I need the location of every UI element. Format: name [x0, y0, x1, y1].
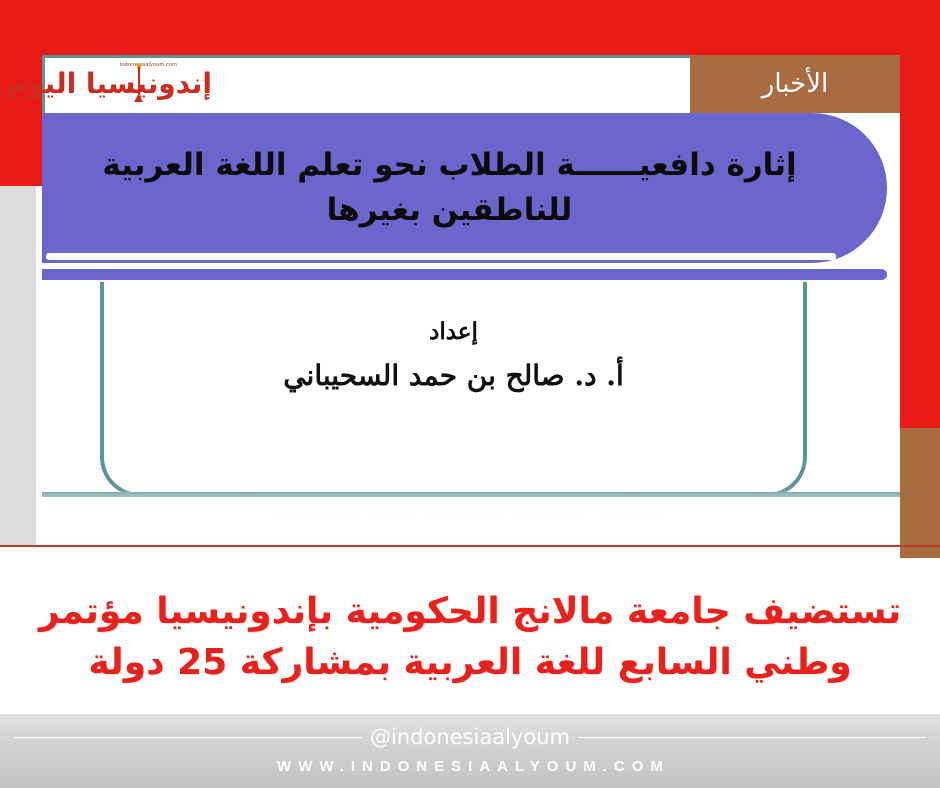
footer-handle: @indonesiaalyoum — [362, 725, 578, 749]
footer-rule-left — [14, 737, 362, 738]
card-bottom-rule — [0, 545, 940, 547]
footer-rule-right — [578, 737, 926, 738]
footer-website-url: WWW.INDONESIAALYOUM.COM — [0, 758, 940, 775]
footer-handle-row: @indonesiaalyoum — [0, 722, 940, 752]
news-badge-label: الأخبار — [762, 69, 828, 99]
slide-title-banner: إثارة دافعيــــــة الطلاب نحو تعلم اللغة… — [42, 113, 887, 263]
author-name: أ. د. صالح بن حمد السحيباني — [100, 354, 807, 399]
banner-under-strip — [42, 269, 887, 280]
author-block: إعداد أ. د. صالح بن حمد السحيباني — [100, 315, 807, 398]
footer-bar: @indonesiaalyoum WWW.INDONESIAALYOUM.COM — [0, 714, 940, 788]
right-brown-block — [900, 428, 940, 558]
right-red-band — [900, 0, 940, 428]
banner-highlight-line — [46, 253, 836, 260]
news-category-badge: الأخبار — [690, 55, 900, 113]
site-logo: indonesiaalyoum.com إندونيسيا اليوم — [62, 60, 222, 108]
prepared-by-label: إعداد — [100, 315, 807, 350]
slide-teal-divider — [42, 492, 900, 497]
slide-faded-subtext: مؤتمر وطني السابع للغة العربية — [42, 492, 900, 546]
slide-title: إثارة دافعيــــــة الطلاب نحو تعلم اللغة… — [65, 143, 865, 233]
lamp-icon — [134, 63, 143, 105]
poster-canvas: indonesiaalyoum.com إندونيسيا اليوم الأخ… — [0, 0, 940, 788]
headline-text: تستضيف جامعة مالانج الحكومية بإندونيسيا … — [20, 586, 920, 688]
left-gray-block — [0, 186, 36, 546]
